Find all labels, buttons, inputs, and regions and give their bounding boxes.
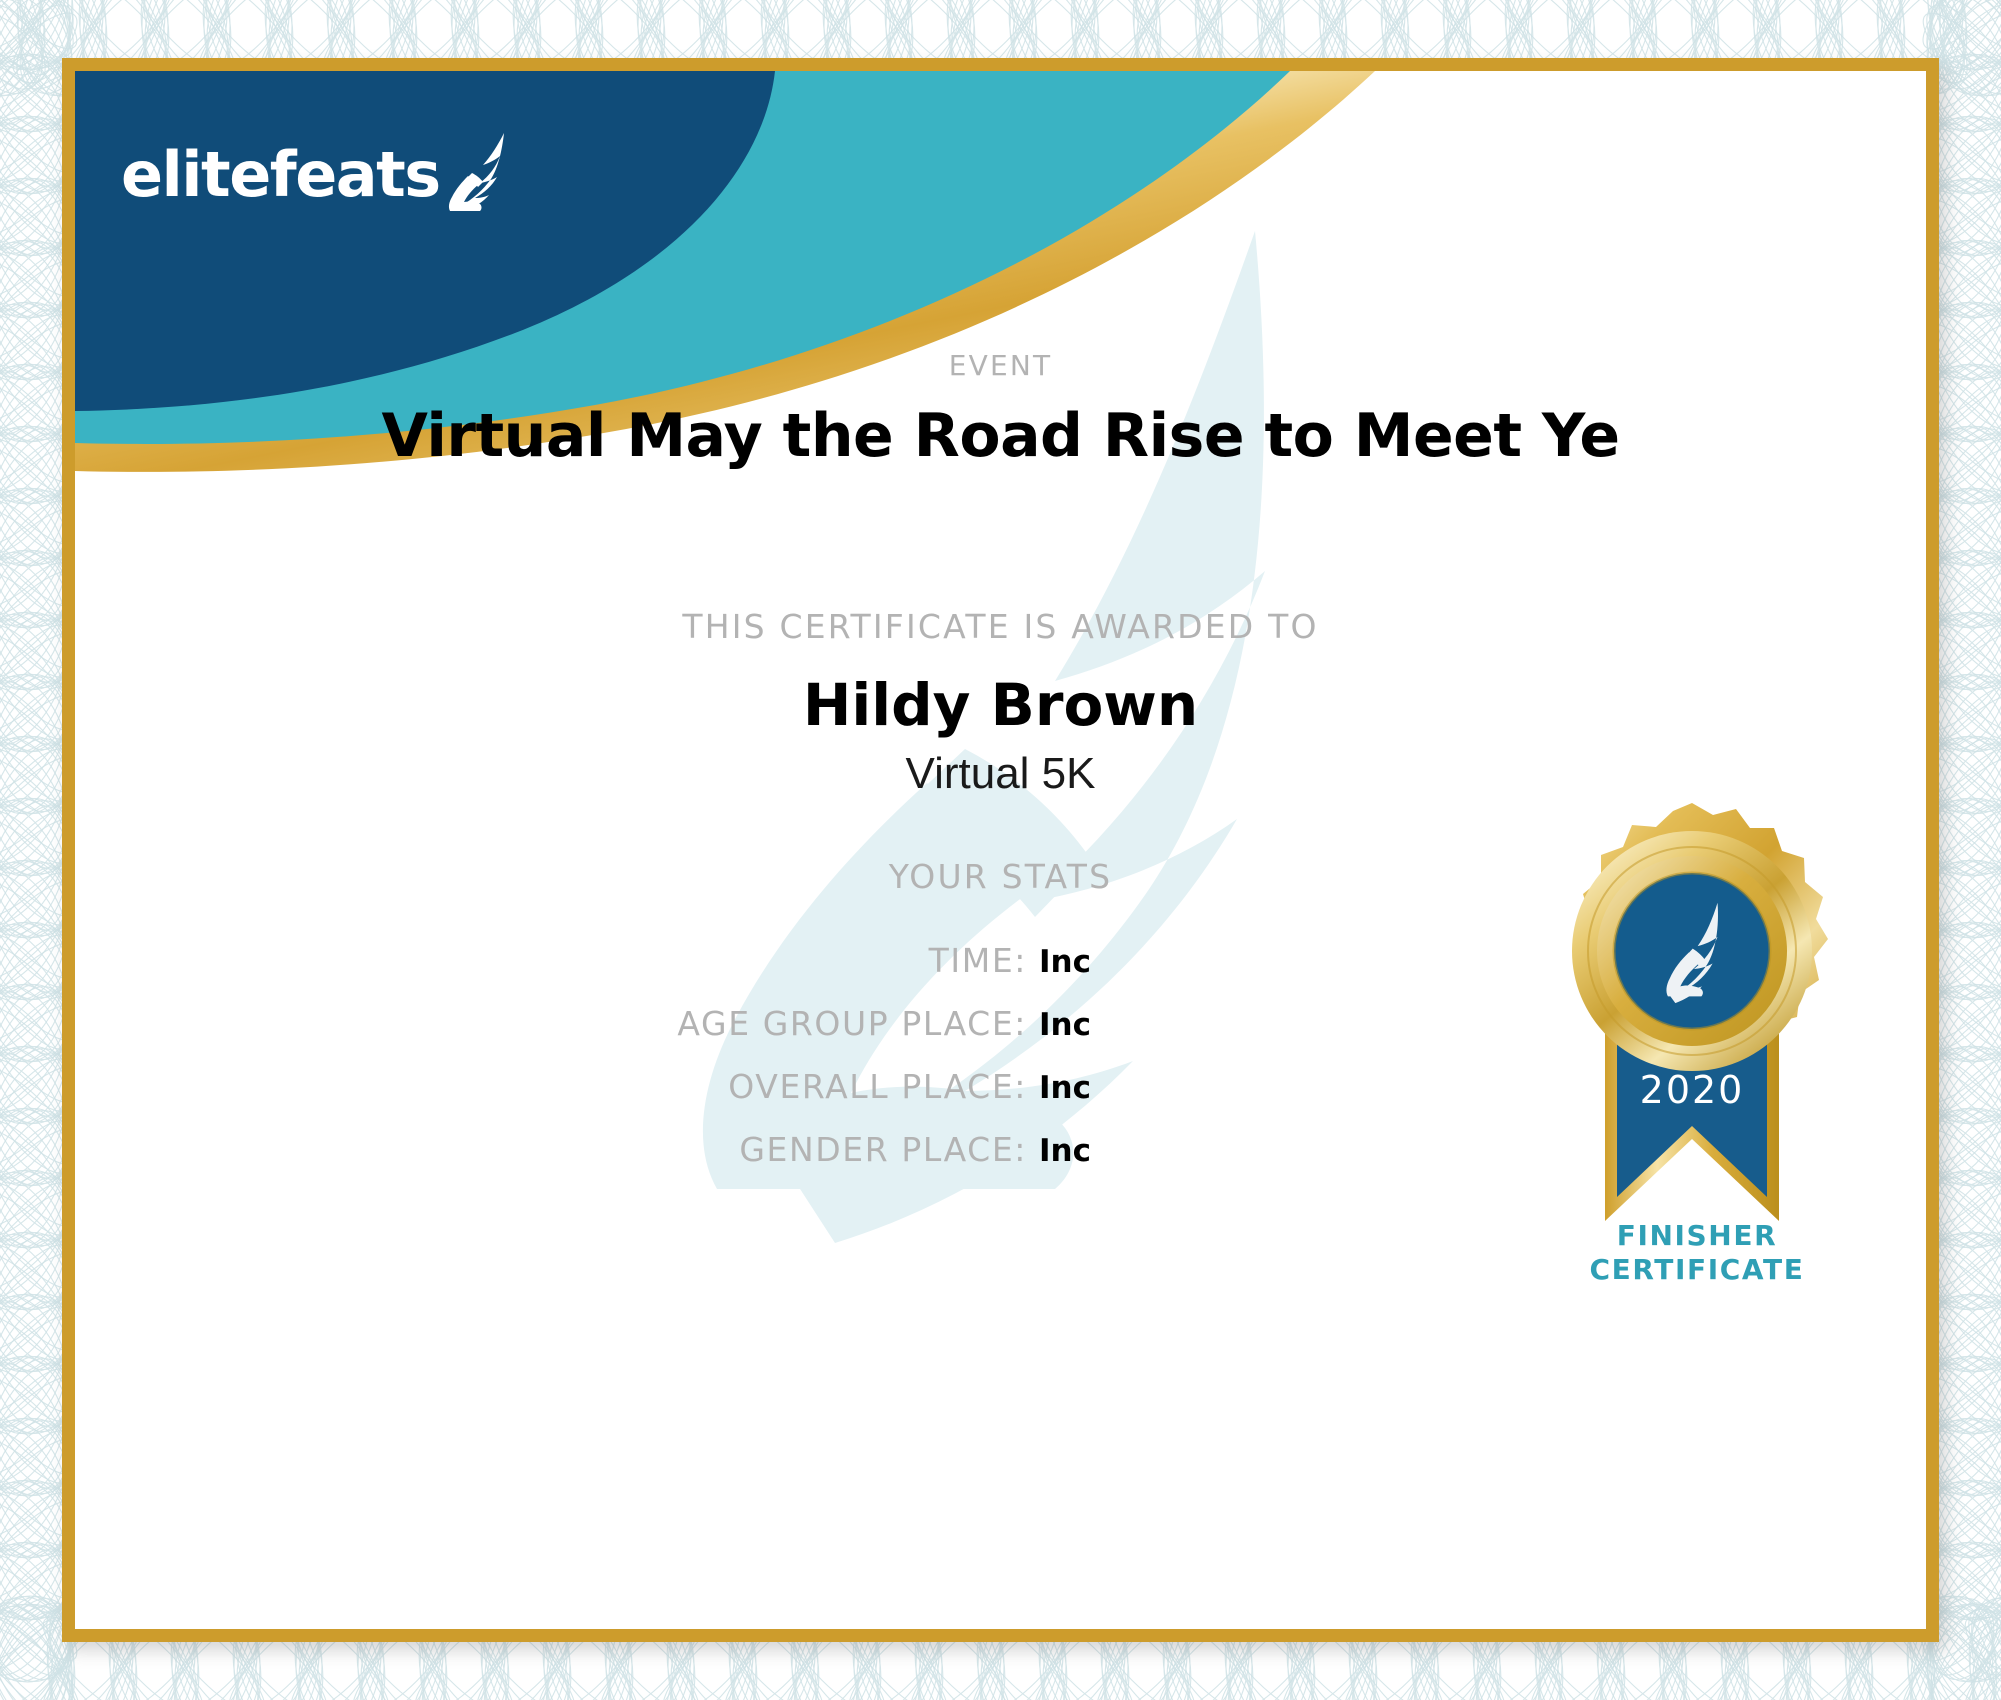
- medal-caption-line2: CERTIFICATE: [1507, 1253, 1887, 1287]
- stat-value: Inc: [1039, 944, 1099, 980]
- finisher-medal: 2020: [1527, 801, 1857, 1281]
- stat-row-age-group-place: AGE GROUP PLACE: Inc: [75, 1004, 1099, 1060]
- stat-row-overall-place: OVERALL PLACE: Inc: [75, 1067, 1099, 1123]
- certificate-sheet: elitefeats EVENT Vir: [62, 58, 1939, 1642]
- stat-label: TIME:: [929, 941, 1027, 980]
- certificate-page: elitefeats EVENT Vir: [0, 0, 2001, 1700]
- stat-label: OVERALL PLACE:: [728, 1067, 1027, 1106]
- stat-value: Inc: [1039, 1070, 1099, 1106]
- medal-caption-line1: FINISHER: [1507, 1219, 1887, 1253]
- stat-value: Inc: [1039, 1133, 1099, 1169]
- stat-value: Inc: [1039, 1007, 1099, 1043]
- stats-list: TIME: Inc AGE GROUP PLACE: Inc OVERALL P…: [75, 941, 1099, 1193]
- recipient-name: Hildy Brown: [75, 671, 1926, 739]
- logo-wordmark: elitefeats: [121, 144, 440, 206]
- medal-caption: FINISHER CERTIFICATE: [1507, 1219, 1887, 1287]
- stat-label: AGE GROUP PLACE:: [677, 1004, 1027, 1043]
- awarded-to-label: THIS CERTIFICATE IS AWARDED TO: [75, 607, 1926, 646]
- recipient-division: Virtual 5K: [75, 749, 1926, 799]
- elitefeats-logo: elitefeats: [121, 129, 518, 206]
- certificate-content: EVENT Virtual May the Road Rise to Meet …: [75, 71, 1926, 1629]
- event-label: EVENT: [75, 349, 1926, 382]
- event-title: Virtual May the Road Rise to Meet Ye: [75, 401, 1926, 471]
- stat-label: GENDER PLACE:: [739, 1130, 1027, 1169]
- stat-row-time: TIME: Inc: [75, 941, 1099, 997]
- stat-row-gender-place: GENDER PLACE: Inc: [75, 1130, 1099, 1186]
- svg-text:2020: 2020: [1640, 1068, 1745, 1112]
- winged-foot-icon: [442, 129, 518, 220]
